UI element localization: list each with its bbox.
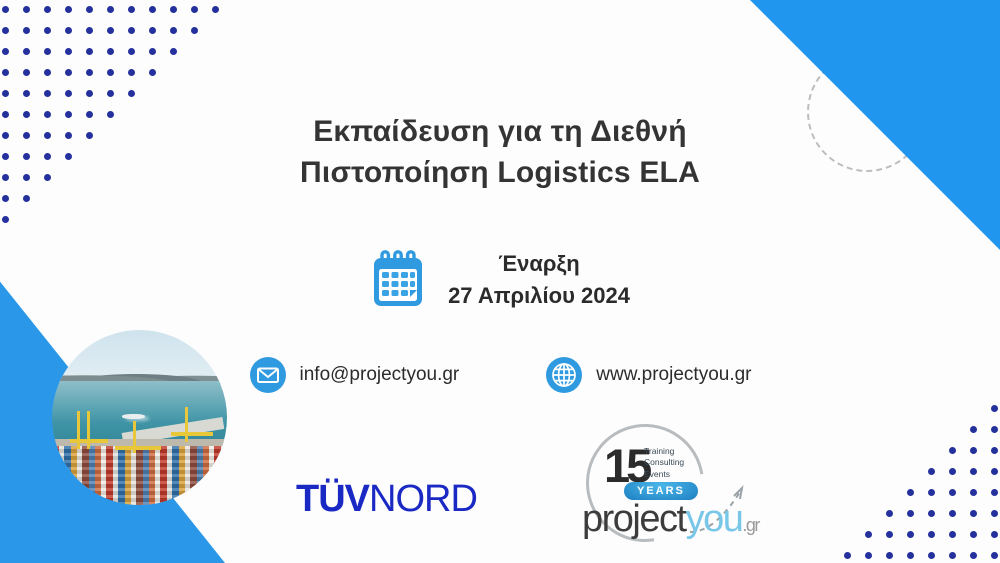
photo-boat	[122, 414, 145, 419]
decorative-dot	[23, 90, 30, 97]
decorative-dot	[107, 90, 114, 97]
decorative-dot	[991, 552, 998, 559]
wordmark-you: you	[686, 498, 743, 540]
decorative-dot	[2, 216, 9, 223]
decorative-dot	[949, 489, 956, 496]
projectyou-logo: 15 Training Consulting Events YEARS proj…	[578, 424, 808, 544]
decorative-dot	[970, 468, 977, 475]
decorative-dot	[65, 69, 72, 76]
service-events: Events	[644, 469, 684, 480]
decorative-dot	[970, 552, 977, 559]
decorative-dot	[128, 69, 135, 76]
photo-crane-mast	[185, 407, 188, 442]
decorative-dot	[44, 69, 51, 76]
decorative-dot	[2, 48, 9, 55]
decorative-dot	[128, 90, 135, 97]
decorative-dot	[86, 6, 93, 13]
decorative-dot	[23, 195, 30, 202]
decorative-dot	[928, 489, 935, 496]
tuv-nord-bold-part: TÜV	[296, 478, 369, 520]
decorative-dot	[128, 6, 135, 13]
start-date-block: Έναρξη 27 Απριλίου 2024	[0, 248, 1000, 312]
decorative-dot	[928, 468, 935, 475]
photo-crane-arm	[115, 446, 161, 450]
tuv-nord-logo: TÜVNORD	[296, 478, 477, 521]
start-value: 27 Απριλίου 2024	[448, 280, 630, 312]
projectyou-wordmark: projectyou.gr	[582, 500, 759, 538]
decorative-dot	[149, 27, 156, 34]
decorative-dot	[970, 426, 977, 433]
decorative-dot	[65, 48, 72, 55]
decorative-dot	[928, 552, 935, 559]
decorative-dot	[2, 27, 9, 34]
decorative-dot	[149, 48, 156, 55]
decorative-dot	[86, 69, 93, 76]
decorative-dot	[149, 6, 156, 13]
photo-crane-mast	[77, 411, 80, 450]
decorative-dot	[23, 27, 30, 34]
decorative-dot	[107, 6, 114, 13]
globe-icon	[545, 356, 583, 394]
service-training: Training	[644, 446, 684, 457]
decorative-dot	[65, 6, 72, 13]
decorative-dot	[65, 90, 72, 97]
decorative-dot	[886, 552, 893, 559]
decorative-dot	[949, 447, 956, 454]
decorative-dot	[970, 489, 977, 496]
decorative-dot	[907, 489, 914, 496]
decorative-dot	[865, 531, 872, 538]
decorative-dot	[86, 27, 93, 34]
decorative-dot	[991, 531, 998, 538]
decorative-dot	[149, 69, 156, 76]
bottom-right-dot-pattern	[830, 391, 998, 559]
decorative-dot	[107, 69, 114, 76]
decorative-dot	[949, 468, 956, 475]
services-list: Training Consulting Events	[644, 446, 684, 480]
contact-email[interactable]: info@projectyou.gr	[249, 356, 460, 394]
decorative-dot	[991, 468, 998, 475]
contact-website[interactable]: www.projectyou.gr	[545, 356, 751, 394]
photo-crane-mast	[87, 411, 90, 450]
decorative-dot	[991, 489, 998, 496]
tuv-nord-light-part: NORD	[369, 478, 477, 520]
wordmark-tld: .gr	[742, 515, 759, 535]
calendar-icon	[370, 250, 426, 310]
decorative-dot	[970, 510, 977, 517]
decorative-dot	[2, 195, 9, 202]
decorative-dot	[991, 447, 998, 454]
decorative-dot	[23, 69, 30, 76]
decorative-dot	[970, 447, 977, 454]
decorative-dot	[949, 510, 956, 517]
photo-crane-arm	[171, 432, 213, 436]
decorative-dot	[2, 90, 9, 97]
decorative-dot	[128, 27, 135, 34]
decorative-dot	[65, 27, 72, 34]
decorative-dot	[991, 510, 998, 517]
decorative-dot	[2, 6, 9, 13]
decorative-dot	[170, 6, 177, 13]
decorative-dot	[886, 531, 893, 538]
decorative-dot	[928, 510, 935, 517]
decorative-dot	[107, 48, 114, 55]
decorative-dot	[128, 48, 135, 55]
decorative-dot	[86, 90, 93, 97]
photo-crane-arm	[70, 439, 109, 443]
decorative-dot	[991, 426, 998, 433]
decorative-dot	[991, 405, 998, 412]
envelope-icon	[249, 356, 287, 394]
decorative-dot	[907, 510, 914, 517]
decorative-dot	[170, 48, 177, 55]
decorative-dot	[212, 6, 219, 13]
wordmark-project: project	[582, 498, 686, 540]
decorative-dot	[191, 6, 198, 13]
contact-row: info@projectyou.gr www.projectyou.gr	[0, 356, 1000, 394]
decorative-dot	[907, 531, 914, 538]
decorative-dot	[107, 27, 114, 34]
decorative-dot	[949, 552, 956, 559]
contact-email-label: info@projectyou.gr	[300, 364, 460, 386]
decorative-dot	[86, 48, 93, 55]
decorative-dot	[44, 27, 51, 34]
decorative-dot	[886, 510, 893, 517]
start-date-text: Έναρξη 27 Απριλίου 2024	[448, 248, 630, 312]
decorative-dot	[44, 48, 51, 55]
page-title: Εκπαίδευση για τη Διεθνή Πιστοποίηση Log…	[0, 112, 1000, 193]
service-consulting: Consulting	[644, 457, 684, 468]
promo-poster: Εκπαίδευση για τη Διεθνή Πιστοποίηση Log…	[0, 0, 1000, 563]
decorative-dot	[865, 552, 872, 559]
decorative-dot	[970, 531, 977, 538]
decorative-dot	[928, 531, 935, 538]
decorative-dot	[844, 552, 851, 559]
contact-website-label: www.projectyou.gr	[596, 364, 751, 386]
start-label: Έναρξη	[448, 248, 630, 280]
decorative-dot	[907, 552, 914, 559]
headline-line-1: Εκπαίδευση για τη Διεθνή	[0, 112, 1000, 153]
headline-line-2: Πιστοποίηση Logistics ELA	[0, 153, 1000, 194]
decorative-dot	[44, 6, 51, 13]
decorative-dot	[23, 6, 30, 13]
decorative-dot	[170, 27, 177, 34]
decorative-dot	[191, 27, 198, 34]
decorative-dot	[949, 531, 956, 538]
decorative-dot	[23, 48, 30, 55]
decorative-dot	[44, 90, 51, 97]
photo-containers	[52, 446, 227, 506]
decorative-dot	[2, 69, 9, 76]
